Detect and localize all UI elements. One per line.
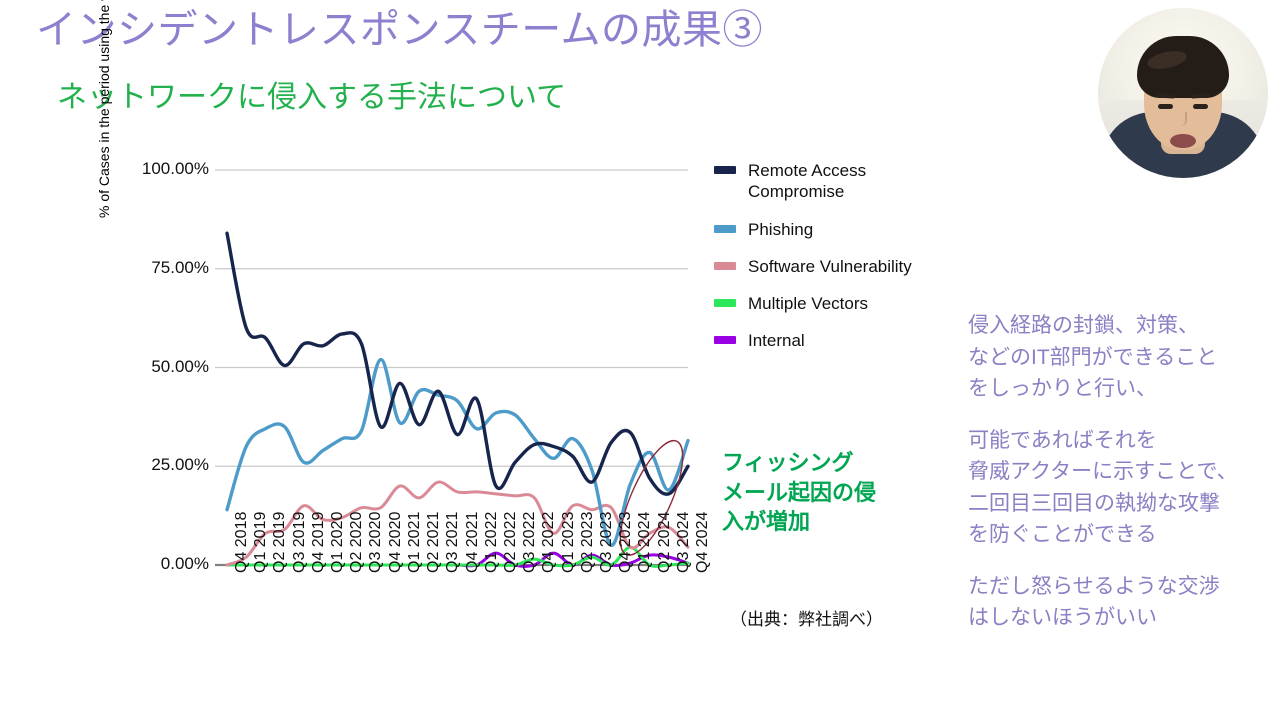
legend-label: Internal	[748, 330, 805, 351]
x-axis-tick-label: Q1 2021	[406, 512, 424, 573]
x-axis-tick-label: Q2 2022	[502, 512, 520, 573]
legend-item[interactable]: Multiple Vectors	[714, 293, 964, 314]
legend-swatch-icon	[714, 225, 736, 233]
y-axis-tick-label: 50.00%	[0, 357, 209, 377]
y-axis-tick-label: 25.00%	[0, 455, 209, 475]
slide-canvas: インシデントレスポンスチームの成果③ ネットワークに侵入する手法について % o…	[0, 0, 1280, 720]
x-axis-tick-label: Q4 2024	[694, 512, 712, 573]
source-note: （出典：弊社調べ）	[730, 605, 883, 630]
x-axis-tick-label: Q2 2020	[348, 512, 366, 573]
legend-label: Remote Access Compromise	[748, 160, 943, 203]
x-axis-tick-label: Q4 2018	[233, 512, 251, 573]
legend-item[interactable]: Internal	[714, 330, 964, 351]
side-commentary-paragraph: 侵入経路の封鎖、対策、 などのIT部門ができること をしっかりと行い、	[968, 310, 1268, 405]
x-axis-tick-label: Q3 2023	[598, 512, 616, 573]
legend-swatch-icon	[714, 262, 736, 270]
x-axis-tick-label: Q2 2021	[425, 512, 443, 573]
series-line	[227, 233, 688, 494]
x-axis-tick-label: Q2 2019	[271, 512, 289, 573]
presenter-video-bubble[interactable]	[1098, 8, 1268, 178]
page-title: インシデントレスポンスチームの成果③	[36, 6, 763, 54]
y-axis-label-wrap: % of Cases in the period using the vecto…	[0, 0, 1, 1]
presenter-hair	[1137, 36, 1229, 98]
x-axis-tick-label: Q1 2020	[329, 512, 347, 573]
legend-swatch-icon	[714, 336, 736, 344]
x-axis-tick-label: Q4 2019	[310, 512, 328, 573]
legend-label: Multiple Vectors	[748, 293, 868, 314]
x-axis-tick-label: Q1 2019	[252, 512, 270, 573]
y-axis-tick-label: 0.00%	[0, 554, 209, 574]
legend-item[interactable]: Remote Access Compromise	[714, 160, 964, 203]
y-axis-tick-label: 75.00%	[0, 258, 209, 278]
x-axis-tick-label: Q2 2023	[579, 512, 597, 573]
chart-legend: Remote Access CompromisePhishingSoftware…	[714, 160, 964, 368]
legend-item[interactable]: Software Vulnerability	[714, 256, 964, 277]
x-axis-tick-label: Q1 2023	[560, 512, 578, 573]
legend-item[interactable]: Phishing	[714, 219, 964, 240]
green-callout-text: フィッシング メール起因の侵 入が増加	[722, 448, 876, 537]
presenter-eye-left	[1158, 104, 1173, 109]
legend-label: Phishing	[748, 219, 813, 240]
presenter-mouth	[1170, 134, 1196, 148]
x-axis-tick-label: Q1 2024	[636, 512, 654, 573]
x-axis-tick-label: Q4 2021	[464, 512, 482, 573]
legend-label: Software Vulnerability	[748, 256, 912, 277]
x-axis-tick-label: Q3 2019	[291, 512, 309, 573]
x-axis-tick-label: Q3 2021	[444, 512, 462, 573]
x-axis-tick-label: Q3 2020	[367, 512, 385, 573]
x-axis-tick-label: Q4 2023	[617, 512, 635, 573]
side-commentary: 侵入経路の封鎖、対策、 などのIT部門ができること をしっかりと行い、可能であれ…	[968, 310, 1268, 634]
legend-swatch-icon	[714, 299, 736, 307]
y-axis-tick-label: 100.00%	[0, 159, 209, 179]
x-axis-tick-label: Q1 2022	[483, 512, 501, 573]
x-axis-tick-label: Q3 2022	[521, 512, 539, 573]
x-axis-tick-label: Q3 2024	[675, 512, 693, 573]
side-commentary-paragraph: ただし怒らせるような交渉 はしないほうがいい	[968, 571, 1268, 634]
x-axis-tick-label: Q2 2024	[656, 512, 674, 573]
y-axis-label: % of Cases in the period using the vecto…	[96, 0, 112, 218]
legend-swatch-icon	[714, 166, 736, 174]
side-commentary-paragraph: 可能であればそれを 脅威アクターに示すことで、 二回目三回目の執拗な攻撃 を防ぐ…	[968, 425, 1268, 551]
presenter-eye-right	[1193, 104, 1208, 109]
x-axis-tick-label: Q4 2022	[540, 512, 558, 573]
page-subtitle: ネットワークに侵入する手法について	[57, 80, 566, 116]
x-axis-tick-label: Q4 2020	[387, 512, 405, 573]
